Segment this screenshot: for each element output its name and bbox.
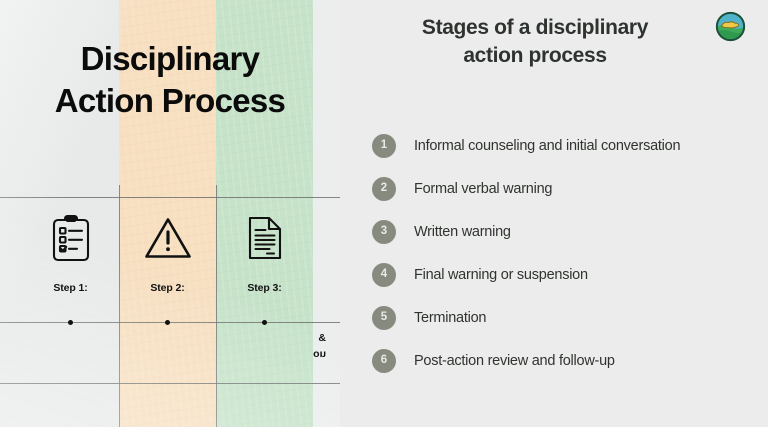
clipped-text-line-2: on <box>280 346 326 362</box>
clipped-overflow-text: & on <box>280 330 326 363</box>
stage-label: Termination <box>414 310 486 326</box>
list-item[interactable]: 6 Post-action review and follow-up <box>372 339 758 382</box>
infographic-preview-panel: Disciplinary Action Process Step 1: <box>0 0 340 427</box>
page-title-line-2: action process <box>376 42 694 70</box>
step-label-1: Step 1: <box>22 282 119 294</box>
divider-line-bottom <box>0 383 340 384</box>
timeline-dot-3 <box>262 320 267 325</box>
warning-triangle-icon <box>119 210 216 266</box>
stage-label: Post-action review and follow-up <box>414 353 615 369</box>
page-title-line-1: Stages of a disciplinary <box>376 14 694 42</box>
timeline-dot-1 <box>68 320 73 325</box>
timeline-dot-2 <box>165 320 170 325</box>
list-item[interactable]: 1 Informal counseling and initial conver… <box>372 124 758 167</box>
list-item[interactable]: 5 Termination <box>372 296 758 339</box>
stage-number-badge: 6 <box>372 349 396 373</box>
clipboard-checklist-icon <box>22 210 119 266</box>
divider-line-top <box>0 197 340 198</box>
infographic-title: Disciplinary Action Process <box>0 38 340 122</box>
step-label-2: Step 2: <box>119 282 216 294</box>
stages-list: 1 Informal counseling and initial conver… <box>372 124 758 382</box>
stage-label: Final warning or suspension <box>414 267 588 283</box>
stage-number-badge: 3 <box>372 220 396 244</box>
stage-label: Written warning <box>414 224 511 240</box>
stage-label: Informal counseling and initial conversa… <box>414 138 680 154</box>
stage-number-badge: 2 <box>372 177 396 201</box>
slide-canvas: Disciplinary Action Process Step 1: <box>0 0 768 427</box>
list-item[interactable]: 3 Written warning <box>372 210 758 253</box>
stage-number-badge: 4 <box>372 263 396 287</box>
clipped-text-line-1: & <box>318 332 326 344</box>
list-item[interactable]: 2 Formal verbal warning <box>372 167 758 210</box>
infographic-title-line-2: Action Process <box>0 80 340 122</box>
infographic-title-line-1: Disciplinary <box>0 38 340 80</box>
stage-number-badge: 5 <box>372 306 396 330</box>
step-label-3: Step 3: <box>216 282 313 294</box>
step-column-1: Step 1: <box>22 210 119 294</box>
content-panel: Stages of a disciplinary action process <box>340 0 768 427</box>
step-column-3: Step 3: <box>216 210 313 294</box>
circular-landscape-logo-icon[interactable] <box>715 11 746 42</box>
list-item[interactable]: 4 Final warning or suspension <box>372 253 758 296</box>
step-column-2: Step 2: <box>119 210 216 294</box>
stage-label: Formal verbal warning <box>414 181 552 197</box>
timeline-axis-line <box>0 322 340 323</box>
document-lines-icon <box>216 210 313 266</box>
stage-number-badge: 1 <box>372 134 396 158</box>
page-title: Stages of a disciplinary action process <box>376 14 694 70</box>
